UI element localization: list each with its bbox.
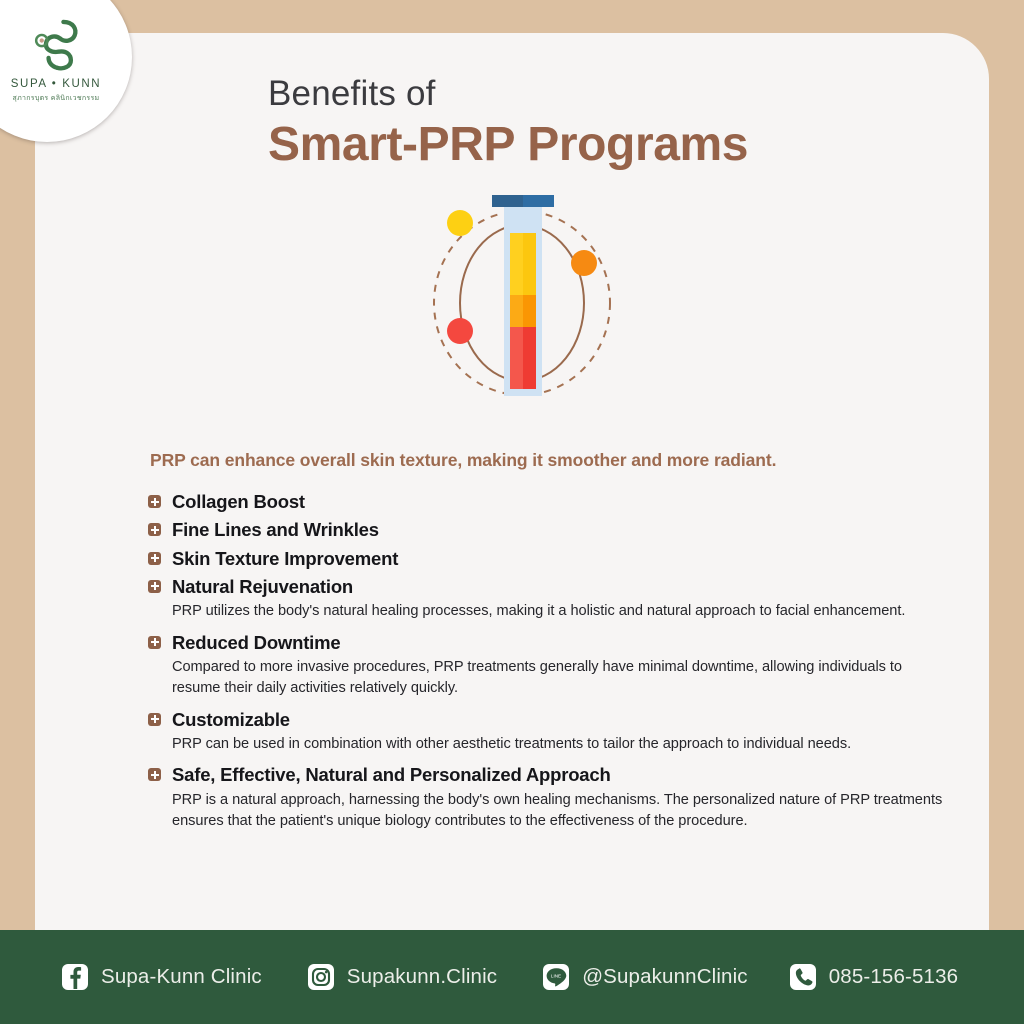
plus-bullet-icon xyxy=(148,523,161,536)
poster-canvas: SUPA • KUNN สุภากรบุตร คลินิกเวชกรรม Ben… xyxy=(0,0,1024,1024)
instagram-icon xyxy=(308,964,334,990)
logo-wordmark: SUPA • KUNN xyxy=(11,78,101,90)
benefit-title: Natural Rejuvenation xyxy=(172,574,948,600)
heading-eyebrow: Benefits of xyxy=(268,76,748,111)
contact-instagram[interactable]: Supakunn.Clinic xyxy=(308,964,497,990)
logo-thai-subtitle: สุภากรบุตร คลินิกเวชกรรม xyxy=(13,93,100,104)
facebook-icon xyxy=(62,964,88,990)
benefit-description: PRP is a natural approach, harnessing th… xyxy=(172,790,948,833)
plasma-layer-shade xyxy=(523,233,536,295)
supakunn-s-monogram-icon xyxy=(25,12,87,74)
list-item: Reduced Downtime Compared to more invasi… xyxy=(148,630,948,700)
plus-bullet-icon xyxy=(148,713,161,726)
yellow-dot xyxy=(447,210,473,236)
svg-text:LINE: LINE xyxy=(551,973,561,978)
red-cells-shade xyxy=(523,327,536,389)
section-subtitle: PRP can enhance overall skin texture, ma… xyxy=(150,450,776,471)
list-item: Skin Texture Improvement xyxy=(148,546,948,572)
plus-bullet-icon xyxy=(148,636,161,649)
buffy-coat-shade xyxy=(523,295,536,327)
plus-bullet-icon xyxy=(148,495,161,508)
benefits-list: Collagen Boost Fine Lines and Wrinkles S… xyxy=(148,489,948,839)
contact-line[interactable]: LINE @SupakunnClinic xyxy=(543,964,748,990)
line-icon: LINE xyxy=(543,964,569,990)
tube-cap-shade xyxy=(492,195,523,207)
benefit-title: Collagen Boost xyxy=(172,489,948,515)
red-dot xyxy=(447,318,473,344)
contact-facebook[interactable]: Supa-Kunn Clinic xyxy=(62,964,262,990)
contact-label: 085-156-5136 xyxy=(829,965,958,989)
benefit-title: Customizable xyxy=(172,707,948,733)
list-item: Customizable PRP can be used in combinat… xyxy=(148,707,948,756)
page-heading: Benefits of Smart-PRP Programs xyxy=(268,76,748,170)
contact-footer: Supa-Kunn Clinic Supakunn.Clinic LINE @S… xyxy=(0,930,1024,1024)
prp-test-tube-illustration xyxy=(412,185,632,415)
list-item: Safe, Effective, Natural and Personalize… xyxy=(148,762,948,832)
list-item: Natural Rejuvenation PRP utilizes the bo… xyxy=(148,574,948,623)
benefit-title: Safe, Effective, Natural and Personalize… xyxy=(172,762,948,788)
plus-bullet-icon xyxy=(148,580,161,593)
contact-label: @SupakunnClinic xyxy=(582,965,748,989)
list-item: Collagen Boost xyxy=(148,489,948,515)
benefit-title: Skin Texture Improvement xyxy=(172,546,948,572)
plus-bullet-icon xyxy=(148,768,161,781)
list-item: Fine Lines and Wrinkles xyxy=(148,517,948,543)
benefit-description: PRP utilizes the body's natural healing … xyxy=(172,601,948,622)
page-title: Smart-PRP Programs xyxy=(268,120,748,170)
benefit-description: PRP can be used in combination with othe… xyxy=(172,734,948,755)
phone-icon xyxy=(790,964,816,990)
contact-label: Supa-Kunn Clinic xyxy=(101,965,262,989)
contact-phone[interactable]: 085-156-5136 xyxy=(790,964,958,990)
plus-bullet-icon xyxy=(148,552,161,565)
benefit-title: Reduced Downtime xyxy=(172,630,948,656)
benefit-title: Fine Lines and Wrinkles xyxy=(172,517,948,543)
contact-label: Supakunn.Clinic xyxy=(347,965,497,989)
orange-dot xyxy=(571,250,597,276)
benefit-description: Compared to more invasive procedures, PR… xyxy=(172,657,948,700)
